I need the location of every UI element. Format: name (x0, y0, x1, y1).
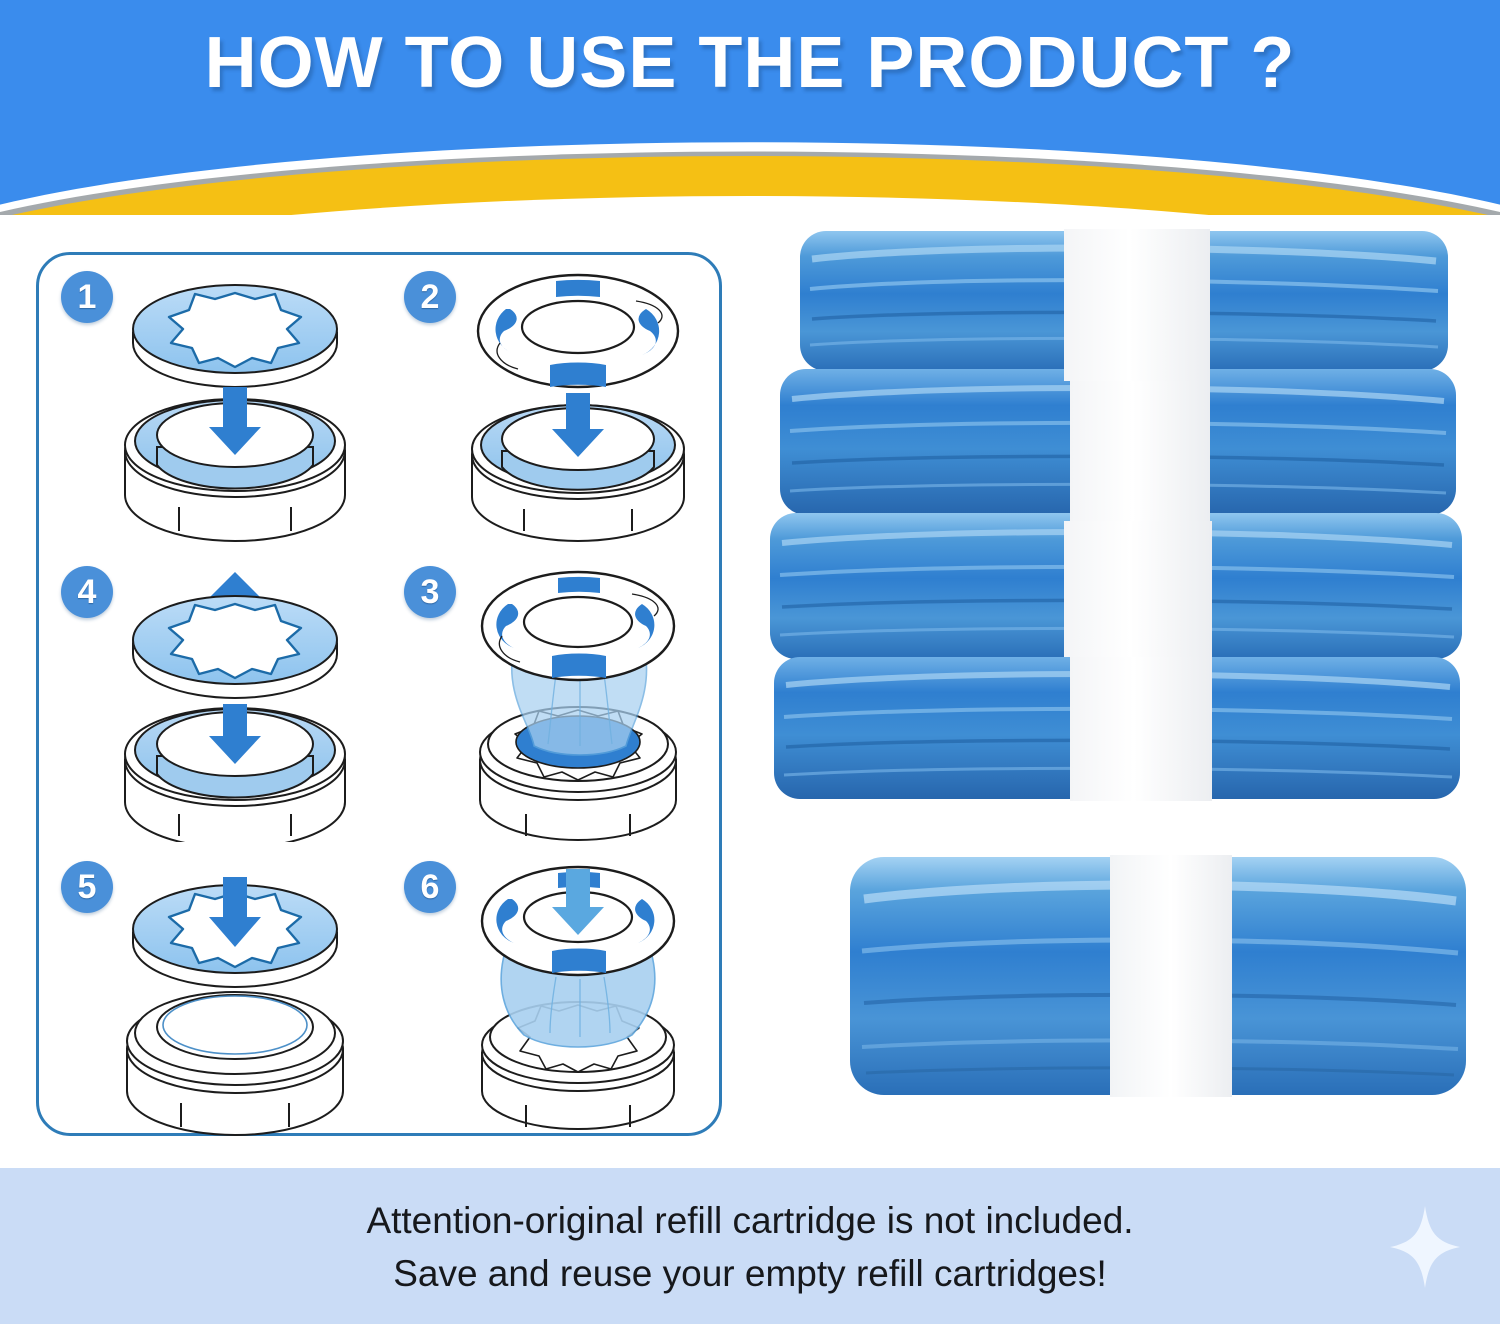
refill-ring-icon (478, 275, 678, 387)
paper-band-single (1110, 855, 1232, 1097)
product-photo-single-roll (842, 847, 1474, 1103)
page-title: HOW TO USE THE PRODUCT ? (0, 22, 1500, 104)
step-3: 3 (382, 550, 725, 845)
step-5: 5 (39, 845, 382, 1140)
step-2: 2 (382, 255, 725, 550)
star-lid-icon (133, 596, 337, 698)
step-4-figure (95, 564, 375, 842)
paper-band-2 (1070, 381, 1210, 521)
step-6-figure (438, 859, 718, 1137)
refill-ring-icon (482, 572, 674, 680)
footer-line-1: Attention-original refill cartridge is n… (0, 1194, 1500, 1247)
footer-notice: Attention-original refill cartridge is n… (0, 1168, 1500, 1324)
step-2-figure (438, 269, 718, 547)
step-4: 4 (39, 550, 382, 845)
paper-band-4 (1070, 657, 1212, 801)
paper-band-3 (1064, 521, 1212, 657)
product-instruction-graphic: HOW TO USE THE PRODUCT ? 1 (0, 0, 1500, 1324)
header-banner: HOW TO USE THE PRODUCT ? (0, 0, 1500, 215)
step-1-figure (95, 269, 375, 547)
product-photo-stacked-rolls (752, 223, 1484, 803)
empty-cartridge-icon (127, 992, 343, 1135)
star-lid-icon (133, 285, 337, 387)
step-3-figure (438, 564, 718, 842)
footer-text-block: Attention-original refill cartridge is n… (0, 1194, 1500, 1300)
step-6: 6 (382, 845, 725, 1140)
step-5-figure (95, 859, 375, 1137)
paper-band-1 (1064, 229, 1210, 381)
main-content: 1 (0, 215, 1500, 1168)
footer-line-2: Save and reuse your empty refill cartrid… (0, 1247, 1500, 1300)
instruction-steps-panel: 1 (36, 252, 722, 1136)
sparkle-icon (1388, 1204, 1462, 1290)
step-1: 1 (39, 255, 382, 550)
